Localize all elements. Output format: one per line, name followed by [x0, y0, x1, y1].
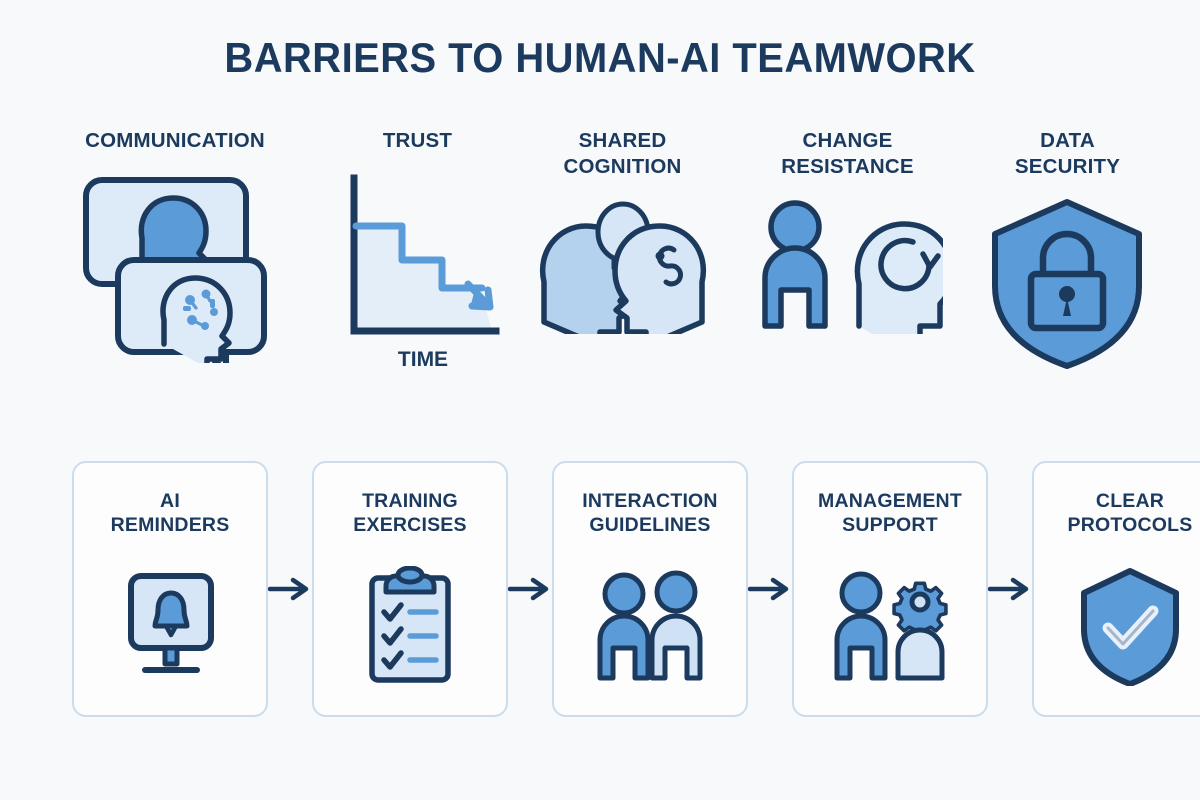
two-heads-lightbulb-icon: [528, 194, 718, 334]
solution-card-training-exercises[interactable]: TRAINING EXERCISES: [312, 461, 508, 717]
barrier-change-resistance: CHANGE RESISTANCE: [735, 128, 960, 398]
arrow-right-icon: [268, 461, 312, 717]
barrier-label: COMMUNICATION: [85, 128, 265, 154]
solutions-flow: AI REMINDERS TRAINING EXERCISES: [72, 460, 1128, 718]
infographic-canvas: BARRIERS TO HUMAN-AI TEAMWORK COMMUNICAT…: [0, 0, 1200, 800]
speech-bubbles-human-and-ai-head-icon: [80, 168, 270, 363]
arrow-right-icon: [508, 461, 552, 717]
barrier-shared-cognition: SHARED COGNITION: [510, 128, 735, 398]
barrier-label: TRUST: [383, 128, 452, 154]
barrier-label: DATA SECURITY: [1015, 128, 1120, 180]
shield-check-icon: [1077, 566, 1183, 686]
solution-card-management-support[interactable]: MANAGEMENT SUPPORT: [792, 461, 988, 717]
solution-card-ai-reminders[interactable]: AI REMINDERS: [72, 461, 268, 717]
card-label: AI REMINDERS: [111, 489, 230, 538]
barrier-trust: TRUST TIME: [325, 128, 510, 398]
declining-step-chart-icon: TIME: [330, 168, 505, 383]
card-label: MANAGEMENT SUPPORT: [818, 489, 962, 538]
person-gear-icon: [828, 566, 953, 686]
card-label: INTERACTION GUIDELINES: [582, 489, 717, 538]
shield-padlock-icon: [985, 194, 1150, 369]
barriers-row: COMMUNICATION: [0, 128, 1200, 398]
card-label: TRAINING EXERCISES: [353, 489, 466, 538]
barrier-label: CHANGE RESISTANCE: [781, 128, 914, 180]
monitor-bell-icon: [115, 566, 225, 686]
person-and-head-with-refresh-arrow-icon: [753, 194, 943, 334]
solution-card-interaction-guidelines[interactable]: INTERACTION GUIDELINES: [552, 461, 748, 717]
barrier-communication: COMMUNICATION: [25, 128, 325, 398]
two-people-icon: [590, 566, 710, 686]
card-label: CLEAR PROTOCOLS: [1068, 489, 1193, 538]
arrow-right-icon: [748, 461, 792, 717]
chart-x-axis-label: TIME: [398, 348, 448, 371]
solution-card-clear-protocols[interactable]: CLEAR PROTOCOLS: [1032, 461, 1200, 717]
clipboard-checklist-icon: [360, 566, 460, 686]
barrier-data-security: DATA SECURITY: [960, 128, 1175, 398]
barrier-label: SHARED COGNITION: [564, 128, 682, 180]
arrow-right-icon: [988, 461, 1032, 717]
page-title: BARRIERS TO HUMAN-AI TEAMWORK: [30, 34, 1170, 82]
